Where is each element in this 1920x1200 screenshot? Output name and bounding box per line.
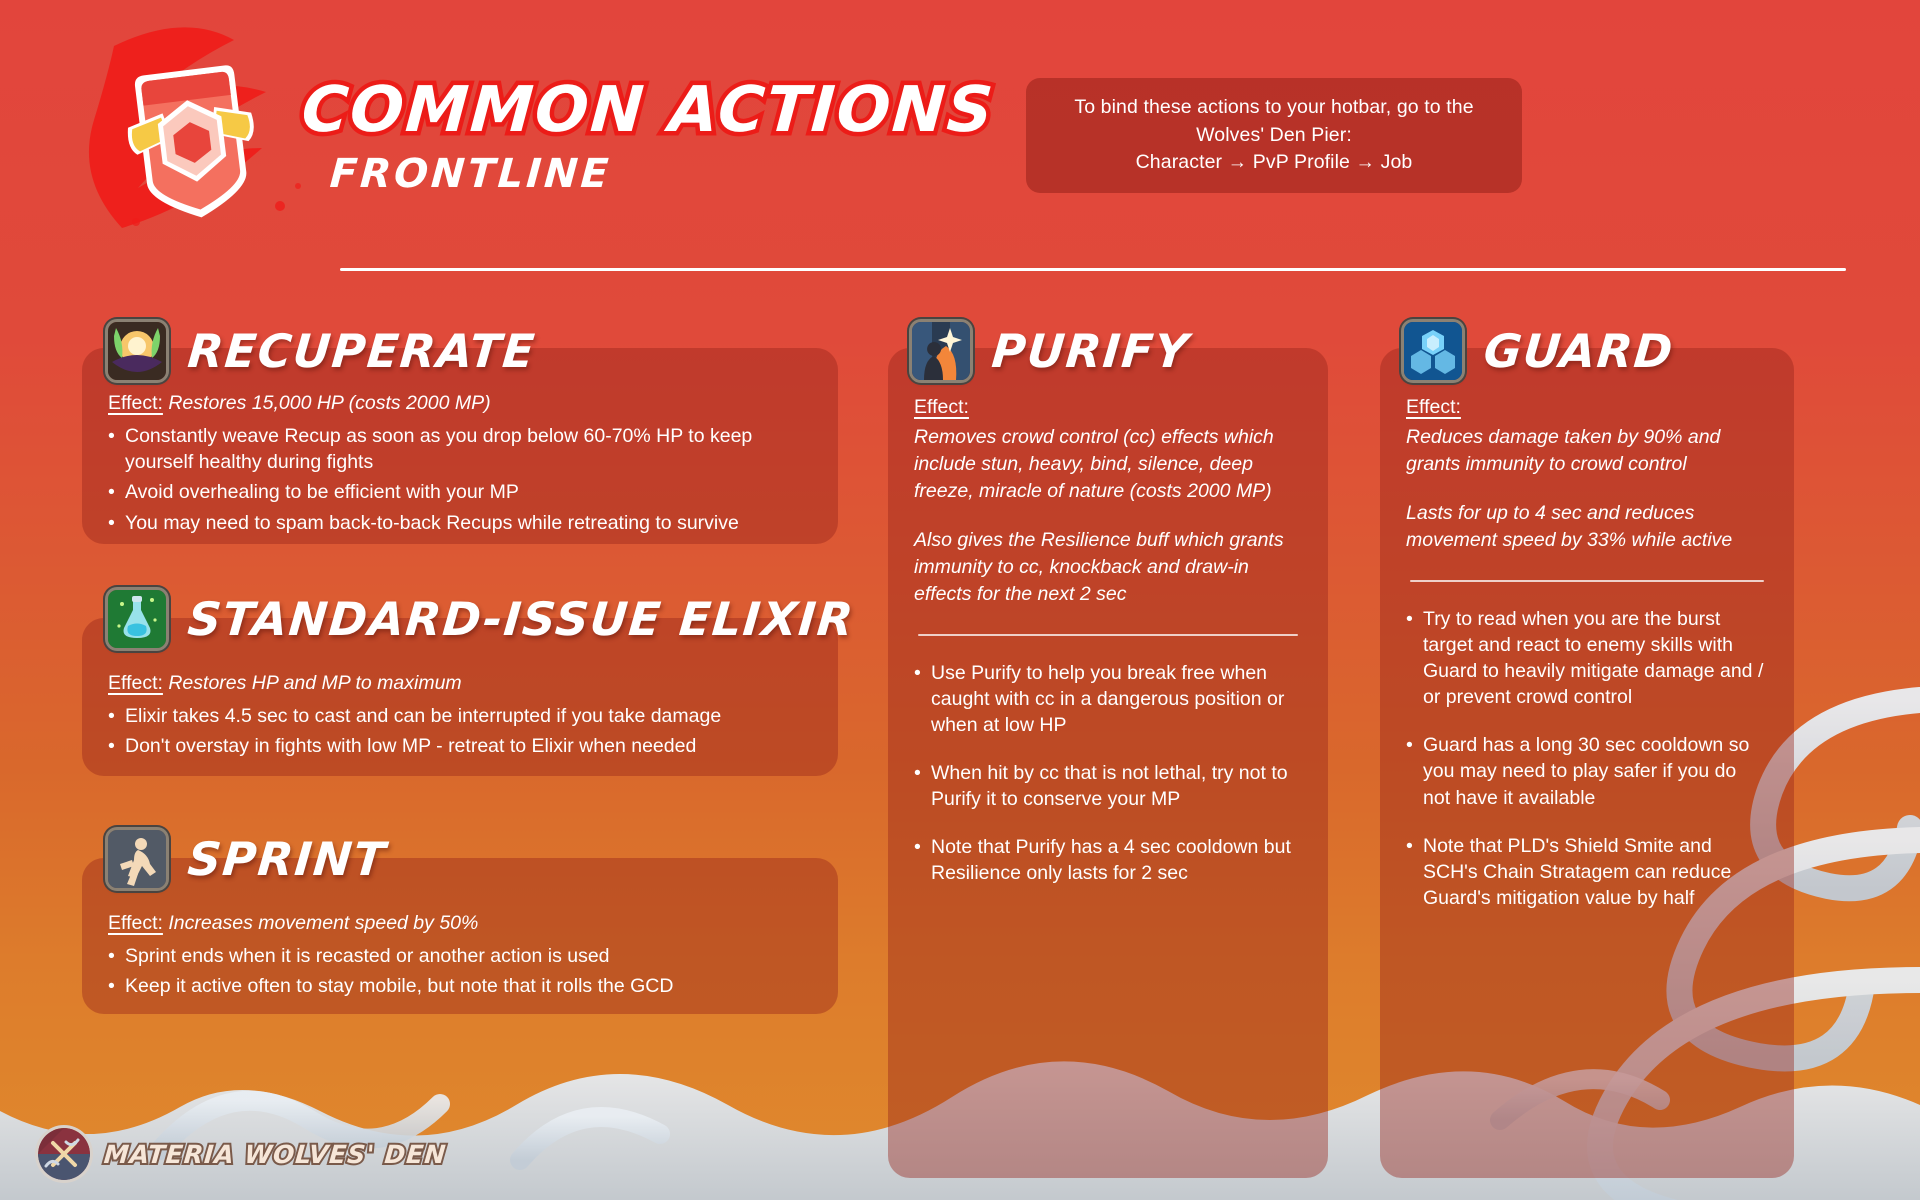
effect-label-elixir: Effect: [108, 672, 163, 694]
bullet-list-purify: Use Purify to help you break free when c… [914, 660, 1302, 887]
page-subtitle: FRONTLINE [328, 151, 996, 197]
card-purify: Effect: Removes crowd control (cc) effec… [888, 348, 1328, 1178]
header-divider [340, 268, 1846, 271]
list-item: When hit by cc that is not lethal, try n… [914, 760, 1302, 812]
hotbar-bind-note: To bind these actions to your hotbar, go… [1026, 78, 1522, 193]
page-header: COMMON ACTIONS FRONTLINE To bind these a… [0, 0, 1920, 268]
list-item: Elixir takes 4.5 sec to cast and can be … [108, 703, 812, 729]
effect-value-sprint: Increases movement speed by 50% [168, 912, 478, 934]
list-item: Use Purify to help you break free when c… [914, 660, 1302, 738]
section-head-recuperate: RECUPERATE [108, 322, 536, 380]
guard-divider [1410, 580, 1764, 582]
bullet-list-recuperate: Constantly weave Recup as soon as you dr… [108, 423, 812, 536]
list-item: Constantly weave Recup as soon as you dr… [108, 423, 812, 475]
list-item: Guard has a long 30 sec cooldown so you … [1406, 732, 1768, 810]
list-item: Don't overstay in fights with low MP - r… [108, 733, 812, 759]
frontline-crest-icon [100, 48, 285, 233]
effect-label-sprint: Effect: [108, 912, 163, 934]
section-title-recuperate: RECUPERATE [186, 324, 538, 378]
list-item: Sprint ends when it is recasted or anoth… [108, 943, 812, 969]
section-head-guard: GUARD [1404, 322, 1674, 380]
footer-brand-text: MATERIA WOLVES' DEN [103, 1140, 448, 1169]
recuperate-action-icon [108, 322, 166, 380]
effect-label-guard: Effect: [1406, 396, 1461, 418]
page-title: COMMON ACTIONS [300, 78, 997, 141]
sprint-runner-icon [108, 830, 166, 888]
section-head-sprint: SPRINT [108, 830, 386, 888]
list-item: Note that PLD's Shield Smite and SCH's C… [1406, 833, 1768, 911]
effect-value-recuperate: Restores 15,000 HP (costs 2000 MP) [168, 392, 490, 414]
list-item: Note that Purify has a 4 sec cooldown bu… [914, 834, 1302, 886]
section-title-guard: GUARD [1482, 324, 1676, 378]
section-head-purify: PURIFY [912, 322, 1189, 380]
bullet-list-elixir: Elixir takes 4.5 sec to cast and can be … [108, 703, 812, 759]
effect-paragraph-guard-1: Reduces damage taken by 90% and grants i… [1406, 424, 1768, 478]
guard-shield-icon [1404, 322, 1462, 380]
list-item: Avoid overhealing to be efficient with y… [108, 479, 812, 505]
effect-label-recuperate: Effect: [108, 392, 163, 414]
bullet-list-sprint: Sprint ends when it is recasted or anoth… [108, 943, 812, 999]
list-item: Try to read when you are the burst targe… [1406, 606, 1768, 711]
hotbar-bind-note-line2: Character → PvP Profile → Job [1048, 149, 1500, 177]
effect-value-elixir: Restores HP and MP to maximum [168, 672, 461, 694]
purify-cleanse-icon [912, 322, 970, 380]
elixir-potion-icon [108, 590, 166, 648]
list-item: Keep it active often to stay mobile, but… [108, 973, 812, 999]
header-title-block: COMMON ACTIONS FRONTLINE [302, 78, 995, 197]
section-head-elixir: STANDARD-ISSUE ELIXIR [108, 590, 854, 648]
footer-brand: MATERIA WOLVES' DEN [38, 1128, 446, 1180]
effect-paragraph-purify-2: Also gives the Resilience buff which gra… [914, 527, 1302, 608]
section-title-purify: PURIFY [990, 324, 1192, 378]
card-guard: Effect: Reduces damage taken by 90% and … [1380, 348, 1794, 1178]
wolves-den-crossed-swords-logo [38, 1128, 90, 1180]
effect-paragraph-guard-2: Lasts for up to 4 sec and reduces moveme… [1406, 500, 1768, 554]
effect-label-purify: Effect: [914, 396, 969, 418]
purify-divider [918, 634, 1298, 636]
list-item: You may need to spam back-to-back Recups… [108, 510, 812, 536]
hotbar-bind-note-line1: To bind these actions to your hotbar, go… [1048, 94, 1500, 149]
section-title-elixir: STANDARD-ISSUE ELIXIR [186, 592, 857, 646]
effect-paragraph-purify-1: Removes crowd control (cc) effects which… [914, 424, 1302, 505]
section-title-sprint: SPRINT [186, 832, 389, 886]
bullet-list-guard: Try to read when you are the burst targe… [1406, 606, 1768, 911]
